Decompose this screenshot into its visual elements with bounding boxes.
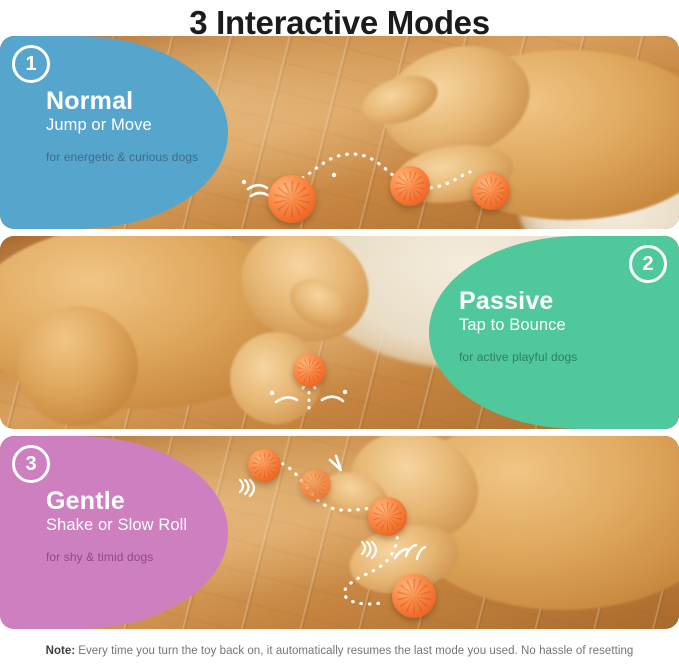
mode-description: for shy & timid dogs — [46, 549, 231, 565]
mode-name: Gentle — [46, 488, 231, 514]
mode-text-normal: Normal Jump or Move for energetic & curi… — [46, 88, 231, 165]
mode-description: for energetic & curious dogs — [46, 149, 231, 165]
mode-panel-normal: 1 Normal Jump or Move for energetic & cu… — [0, 36, 679, 229]
mode-badge-1: 1 — [12, 45, 50, 83]
mode-panel-gentle: 3 Gentle Shake or Slow Roll for shy & ti… — [0, 436, 679, 629]
mode-action: Tap to Bounce — [459, 315, 659, 336]
mode-panel-passive: 2 Passive Tap to Bounce for active playf… — [0, 236, 679, 429]
mode-name: Passive — [459, 288, 659, 314]
footer-note: Note:Every time you turn the toy back on… — [0, 636, 679, 666]
mode-badge-3: 3 — [12, 445, 50, 483]
page-title: 3 Interactive Modes — [0, 0, 679, 36]
mode-text-gentle: Gentle Shake or Slow Roll for shy & timi… — [46, 488, 231, 565]
mode-name: Normal — [46, 88, 231, 114]
mode-badge-2: 2 — [629, 245, 667, 283]
mode-action: Shake or Slow Roll — [46, 515, 231, 536]
mode-description: for active playful dogs — [459, 349, 659, 365]
modes-list: 1 Normal Jump or Move for energetic & cu… — [0, 36, 679, 629]
mode-text-passive: Passive Tap to Bounce for active playful… — [459, 288, 659, 365]
mode-action: Jump or Move — [46, 115, 231, 136]
